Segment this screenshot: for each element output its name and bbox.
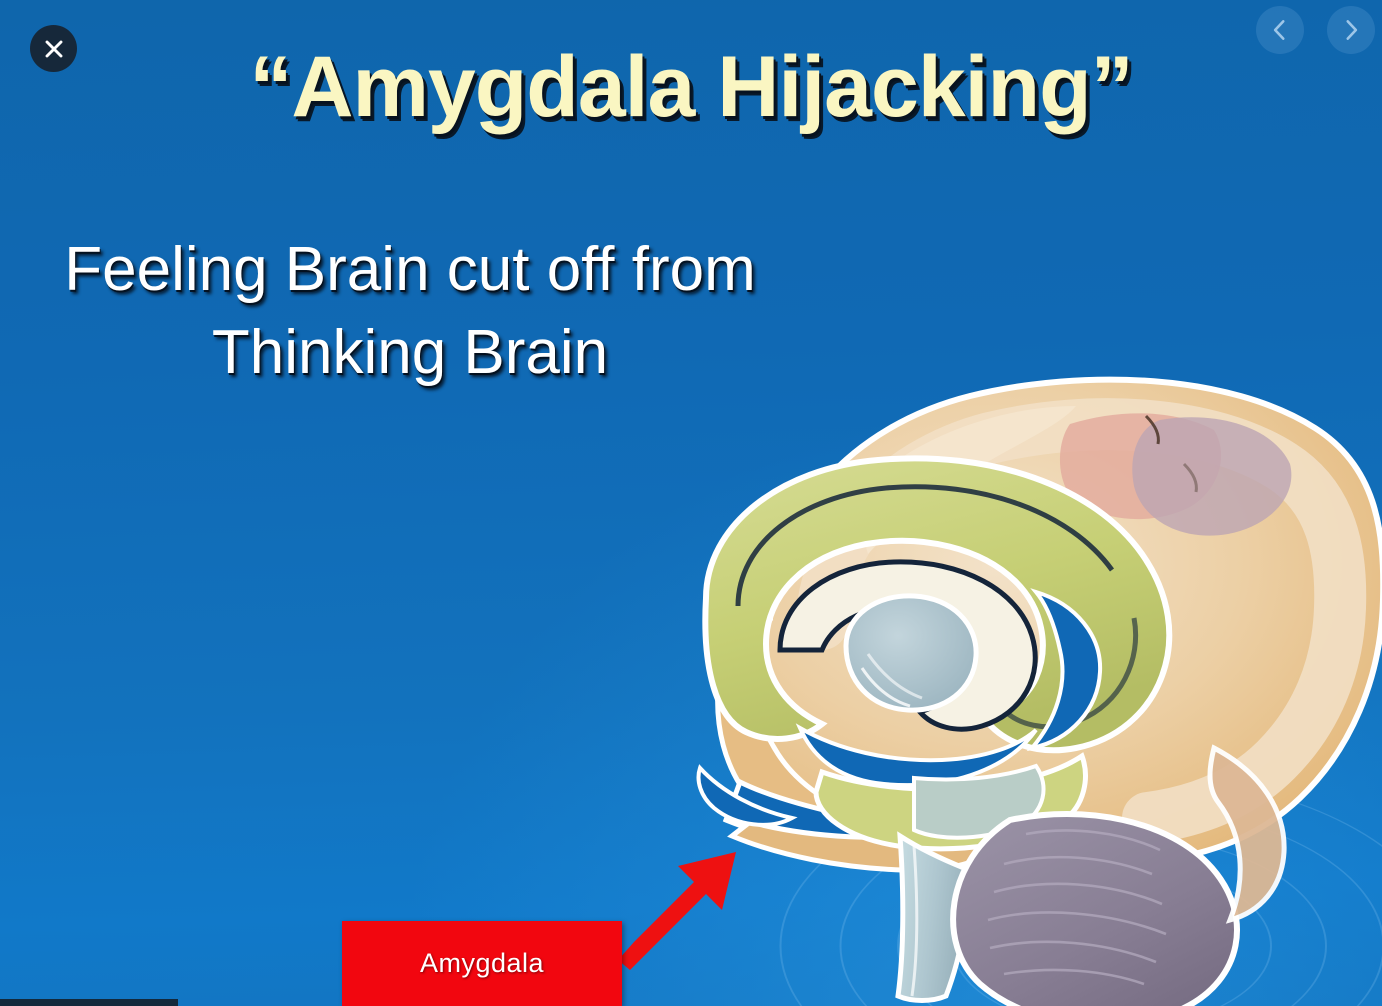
- presentation-slide: “Amygdala Hijacking” Feeling Brain cut o…: [0, 0, 1382, 1006]
- slide-title: “Amygdala Hijacking”: [0, 38, 1382, 137]
- midsagittal-brain-diagram: [470, 368, 1382, 1006]
- amygdala-label-text: Amygdala: [420, 948, 544, 979]
- subtitle-line-1: Feeling Brain cut off from: [20, 228, 800, 311]
- thalamus: [846, 596, 976, 710]
- amygdala-label-box: Amygdala: [342, 921, 622, 1006]
- bottom-edge-strip: [0, 999, 178, 1006]
